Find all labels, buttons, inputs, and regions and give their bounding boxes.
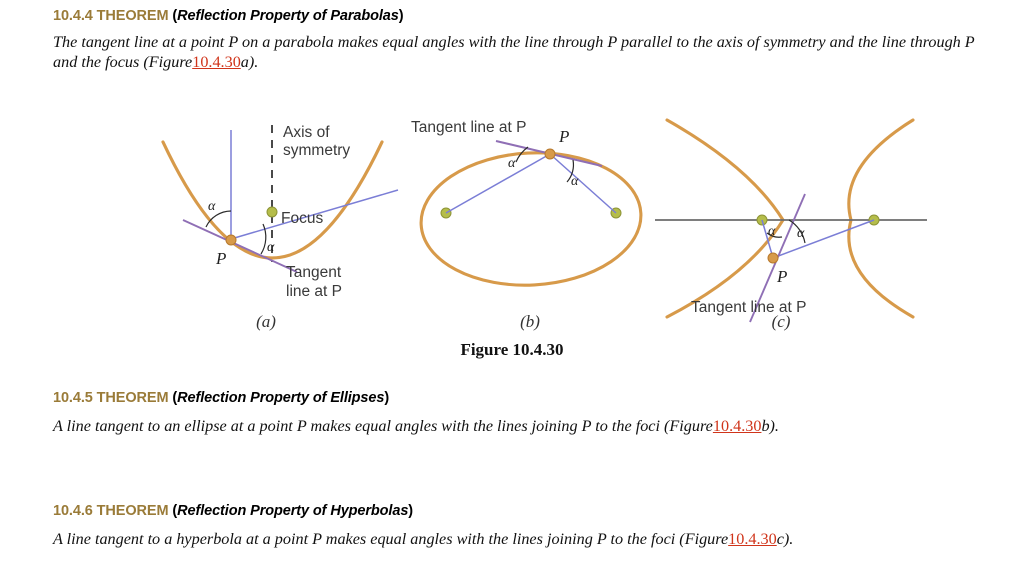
theorem-title-group: (Reflection Property of Ellipses) [172, 390, 389, 406]
angle-arc-alpha-2 [261, 224, 266, 254]
focal-ray-left [446, 154, 550, 213]
alpha-label-2-hyperbola: α [797, 226, 805, 241]
tangent-line-parabola [183, 220, 297, 272]
focal-ray-right-hyperbola [773, 220, 874, 258]
theorem-body-10-4-6: A line tangent to a hyperbola at a point… [53, 530, 983, 550]
point-p-label-ellipse: P [558, 127, 569, 146]
figure-link-10-4-30-c[interactable]: 10.4.30 [728, 530, 777, 548]
textbook-page: 10.4.4 THEOREM (Reflection Property of P… [0, 0, 1024, 577]
alpha-label-1-hyperbola: α [768, 224, 776, 239]
theorem-number: 10.4.4 THEOREM [53, 8, 168, 24]
tangent-label-line1: Tangent [286, 264, 342, 281]
point-p-dot-ellipse [545, 149, 555, 159]
theorem-body-text-after: a). [241, 53, 259, 71]
theorem-title: Reflection Property of Hyperbolas [177, 503, 408, 519]
figure-10-4-30: Axis of symmetry Focus Tangent line at P… [0, 112, 1024, 362]
theorem-body-text-after: b). [761, 417, 779, 435]
panel-hyperbola: P α α Tangent line at P (c) [655, 112, 935, 342]
point-p-label-parabola: P [215, 249, 226, 268]
theorem-number: 10.4.6 THEOREM [53, 503, 168, 519]
theorem-heading-10-4-6: 10.4.6 THEOREM (Reflection Property of H… [53, 503, 413, 519]
alpha-label-1-ellipse: α [508, 156, 516, 171]
theorem-heading-10-4-4: 10.4.4 THEOREM (Reflection Property of P… [53, 8, 403, 24]
paren-close: ) [384, 390, 389, 406]
axis-of-symmetry-label-line1: Axis of [283, 124, 330, 141]
focus-dot [267, 207, 277, 217]
point-p-label-hyperbola: P [776, 267, 787, 286]
paren-close: ) [408, 503, 413, 519]
figure-link-10-4-30-b[interactable]: 10.4.30 [713, 417, 762, 435]
tangent-label-line2: line at P [286, 283, 342, 300]
theorem-title: Reflection Property of Ellipses [177, 390, 384, 406]
axis-of-symmetry-label-line2: symmetry [283, 142, 350, 159]
paren-close: ) [399, 8, 404, 24]
theorem-number: 10.4.5 THEOREM [53, 390, 168, 406]
figure-caption: Figure 10.4.30 [0, 340, 1024, 360]
alpha-label-2-ellipse: α [571, 174, 579, 189]
theorem-body-text-before: A line tangent to a hyperbola at a point… [53, 530, 728, 548]
theorem-heading-10-4-5: 10.4.5 THEOREM (Reflection Property of E… [53, 390, 389, 406]
panel-ellipse: Tangent line at P P α α (b) [395, 112, 685, 342]
hyperbola-right-branch [849, 120, 913, 317]
theorem-title-group: (Reflection Property of Parabolas) [172, 8, 403, 24]
point-p-dot-hyperbola [768, 253, 778, 263]
alpha-label-1-parabola: α [208, 199, 216, 214]
theorem-title-group: (Reflection Property of Hyperbolas) [172, 503, 413, 519]
ellipse-curve [418, 147, 645, 290]
figure-link-10-4-30-a[interactable]: 10.4.30 [192, 53, 241, 71]
theorem-body-text-after: c). [777, 530, 794, 548]
focus-label: Focus [281, 210, 323, 227]
alpha-label-2-parabola: α [267, 240, 275, 255]
theorem-title: Reflection Property of Parabolas [177, 8, 399, 24]
focal-ray-right [550, 154, 616, 213]
point-p-dot-parabola [226, 235, 236, 245]
panel-label-c: (c) [772, 312, 791, 331]
theorem-body-10-4-4: The tangent line at a point P on a parab… [53, 33, 983, 72]
theorem-body-10-4-5: A line tangent to an ellipse at a point … [53, 417, 983, 437]
panel-label-a: (a) [256, 312, 276, 331]
panel-label-b: (b) [520, 312, 540, 331]
theorem-body-text-before: A line tangent to an ellipse at a point … [53, 417, 713, 435]
tangent-label-ellipse: Tangent line at P [411, 119, 526, 136]
